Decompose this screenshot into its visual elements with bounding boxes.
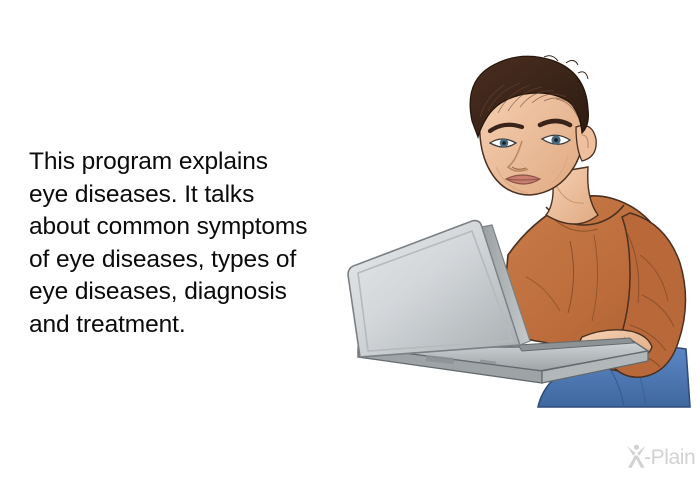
body-paragraph: This program explains eye diseases. It t… bbox=[29, 146, 374, 342]
xplain-logo: -Plain bbox=[622, 443, 696, 473]
illustration-man-with-laptop bbox=[330, 55, 700, 410]
slide-canvas: This program explains eye diseases. It t… bbox=[0, 0, 700, 480]
logo-wordmark: -Plain bbox=[644, 446, 695, 470]
